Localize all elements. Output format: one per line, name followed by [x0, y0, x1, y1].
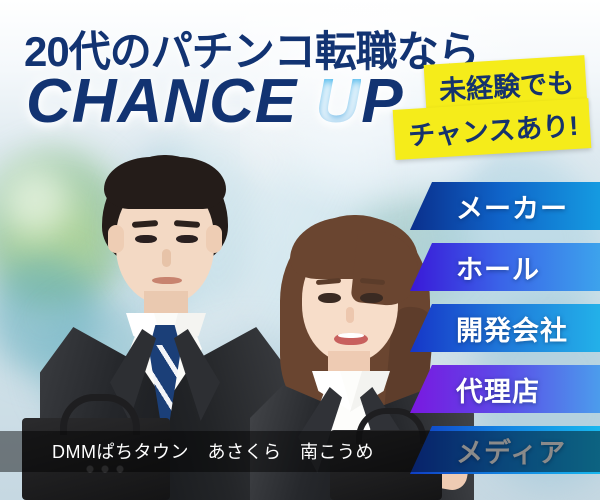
category-button-label: ホール [456, 248, 540, 287]
logo-chance-up: CHANCE UP [26, 66, 404, 137]
man-mouth [152, 277, 182, 284]
advertisement-banner[interactable]: 20代のパチンコ転職なら CHANCE UP 未経験でも チャンスあり! メーカ… [0, 0, 600, 500]
category-button-maker[interactable]: メーカー [410, 182, 600, 230]
man-ear-left [108, 225, 124, 253]
man-fringe [104, 157, 226, 209]
category-button-label: メーカー [456, 187, 568, 226]
woman-teeth [338, 333, 364, 338]
category-button-hall[interactable]: ホール [410, 243, 600, 291]
man-ear-right [206, 225, 222, 253]
category-button-agency[interactable]: 代理店 [410, 365, 600, 413]
woman-eye-right [360, 293, 383, 303]
category-button-development-company[interactable]: 開発会社 [410, 304, 600, 352]
woman-nose [346, 307, 354, 323]
man-nose [162, 249, 171, 267]
logo-word-chance: CHANCE [26, 67, 297, 136]
category-button-label: 開発会社 [456, 309, 568, 348]
woman-eye-left [318, 293, 341, 303]
logo-letter-u: U [315, 67, 361, 136]
man-eye-left [135, 235, 157, 243]
credit-caption: DMMぱちタウン あさくら 南こうめ [0, 431, 600, 472]
man-eye-right [176, 235, 198, 243]
category-button-label: 代理店 [456, 370, 540, 409]
